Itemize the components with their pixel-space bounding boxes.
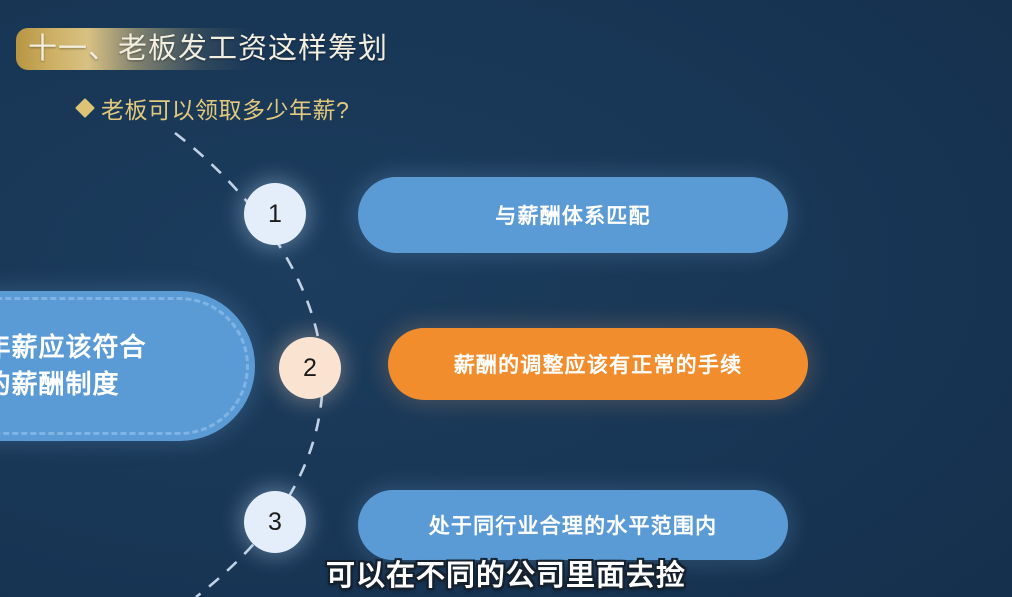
left-summary-text: 老板的年薪应该符合 公司的薪酬制度 — [0, 291, 255, 441]
step-item-label-1: 与薪酬体系匹配 — [495, 200, 650, 230]
subtitle-row: 老板可以领取多少年薪? — [78, 91, 349, 125]
left-summary-line-1: 老板的年薪应该符合 — [0, 329, 147, 366]
step-number-label-3: 3 — [268, 508, 282, 537]
video-caption: 可以在不同的公司里面去捡 — [0, 552, 1012, 594]
page-title: 十一、老板发工资这样筹划 — [28, 26, 388, 72]
subtitle-text: 老板可以领取多少年薪? — [101, 91, 349, 125]
step-item-label-2: 薪酬的调整应该有正常的手续 — [454, 349, 743, 379]
step-item-label-3: 处于同行业合理的水平范围内 — [429, 510, 718, 540]
step-number-label-1: 1 — [268, 200, 282, 229]
slide-canvas: 十一、老板发工资这样筹划 老板可以领取多少年薪? 老板的年薪应该符合 公司的薪酬… — [0, 0, 1012, 597]
step-item-2[interactable]: 薪酬的调整应该有正常的手续 — [388, 328, 808, 400]
step-item-3[interactable]: 处于同行业合理的水平范围内 — [358, 490, 788, 560]
left-summary-box: 老板的年薪应该符合 公司的薪酬制度 — [0, 291, 255, 441]
step-number-circle-3: 3 — [244, 491, 306, 553]
diamond-icon — [75, 98, 95, 118]
left-summary-line-2: 公司的薪酬制度 — [0, 366, 120, 403]
step-item-1[interactable]: 与薪酬体系匹配 — [358, 177, 788, 253]
step-number-circle-2: 2 — [279, 337, 341, 399]
step-number-label-2: 2 — [303, 354, 317, 383]
step-number-circle-1: 1 — [244, 183, 306, 245]
